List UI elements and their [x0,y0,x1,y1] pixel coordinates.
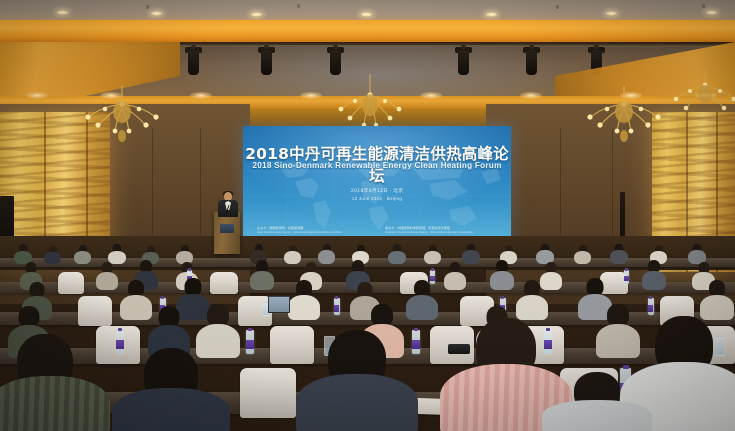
ceiling-downlight [250,12,263,17]
ceiling-soffit-upper [0,0,735,22]
ceiling-downlight [605,11,618,16]
forum-date-cn: 2018年6月12日 · 北京 [243,188,511,194]
organizer-label-cn: 主办方： [257,226,269,230]
organizer-block-host: 主办方：国家能源局、丹麦能源署 Host: Danish Energy Agen… [257,226,341,235]
person-body [444,272,466,290]
cove-light-band [0,20,735,42]
podium [214,212,240,254]
audience-person [318,244,335,264]
person-body [424,251,441,264]
audience-person-foreground [296,330,418,431]
audience-person [516,280,548,320]
organizer-value-cn: 国家能源局、丹麦能源署 [269,226,303,230]
audience-person [490,260,514,290]
person-body [74,251,91,264]
stage-spotlight [258,45,275,75]
stage-spotlight [455,45,472,75]
audience-person [536,244,554,264]
conference-photo: 2018中丹可再生能源清洁供热高峰论坛 2018 Sino-Denmark Re… [0,0,735,431]
sprinkler-head [556,5,559,9]
water-bottle [648,298,654,315]
ceiling-wash-glow [190,92,212,99]
person-body [284,251,301,264]
audience-person [444,262,466,290]
chandelier [660,70,735,126]
water-bottle [334,298,340,315]
person-body [490,271,514,290]
audience-person [14,244,32,264]
sprinkler-head [146,5,149,9]
stage-spotlight [327,45,344,75]
organizer-value-cn: 中国建筑科学研究院、丹麦驻华大使馆 [397,226,450,230]
person-body [542,400,652,431]
person-body [516,295,548,320]
organizer-label-cn: 承办方： [385,226,397,230]
person-body [388,251,406,264]
ceiling-downlight [485,12,498,17]
audience-person-foreground [0,334,110,431]
person-body [112,388,230,431]
chair [240,368,296,418]
audience-person [96,262,118,290]
audience-person [288,280,320,320]
audience-person [700,280,734,320]
audience-person [688,244,706,264]
audience-person [462,244,480,264]
stage-spotlight [523,45,540,75]
person-body [288,295,320,320]
ceiling-wash-glow [26,92,48,99]
ceiling-downlight [705,10,718,15]
person-body [610,250,628,264]
ceiling-downlight [150,11,163,16]
audience-person [44,246,61,264]
organizer-line-en: Host: Danish Energy Agency · National En… [257,231,341,236]
audience-person [250,260,274,290]
audience-person-foreground [542,372,652,431]
ceiling-wash-glow [300,92,322,99]
forum-date-en: 12 June 2018 · Beijing [243,196,511,201]
stage-spotlight [185,45,202,75]
audience-person-foreground [112,348,230,431]
person-body [574,251,591,264]
podium-plaque [220,224,234,233]
audience-person [74,245,91,264]
water-bottle [246,330,254,354]
water-bottle [624,270,629,284]
sprinkler-head [297,4,300,8]
chair [78,296,112,326]
person-body [44,252,61,264]
person-body [296,374,418,431]
chandelier [68,84,176,146]
person-body [406,295,438,320]
wall-seam [200,128,201,253]
audience-person [610,244,628,264]
audience-person [574,245,591,264]
audience-person [284,245,301,264]
audience-person [642,260,666,290]
sprinkler-head [702,4,705,8]
audience-person [406,280,438,320]
ceiling-downlight [56,10,69,15]
audience-person [388,244,406,264]
person-body [96,272,118,290]
organizer-block-organizer: 承办方：中国建筑科学研究院、丹麦驻华大使馆 Organizer: Danish … [385,226,473,235]
forum-title-en: 2018 Sino-Denmark Renewable Energy Clean… [243,161,511,170]
ceiling-downlight [360,12,373,17]
audience-person [108,244,126,264]
chair [210,272,238,294]
person-body [0,376,110,431]
chair [58,272,84,294]
organizer-line-en: Organizer: Danish Embassy Beijing · Chin… [385,231,473,236]
ceiling-wash-glow [520,92,542,99]
ceiling-wash-glow [420,92,442,99]
laptop [268,296,290,313]
audience-person [424,245,441,264]
person-body [250,271,274,290]
person-body [642,271,666,290]
